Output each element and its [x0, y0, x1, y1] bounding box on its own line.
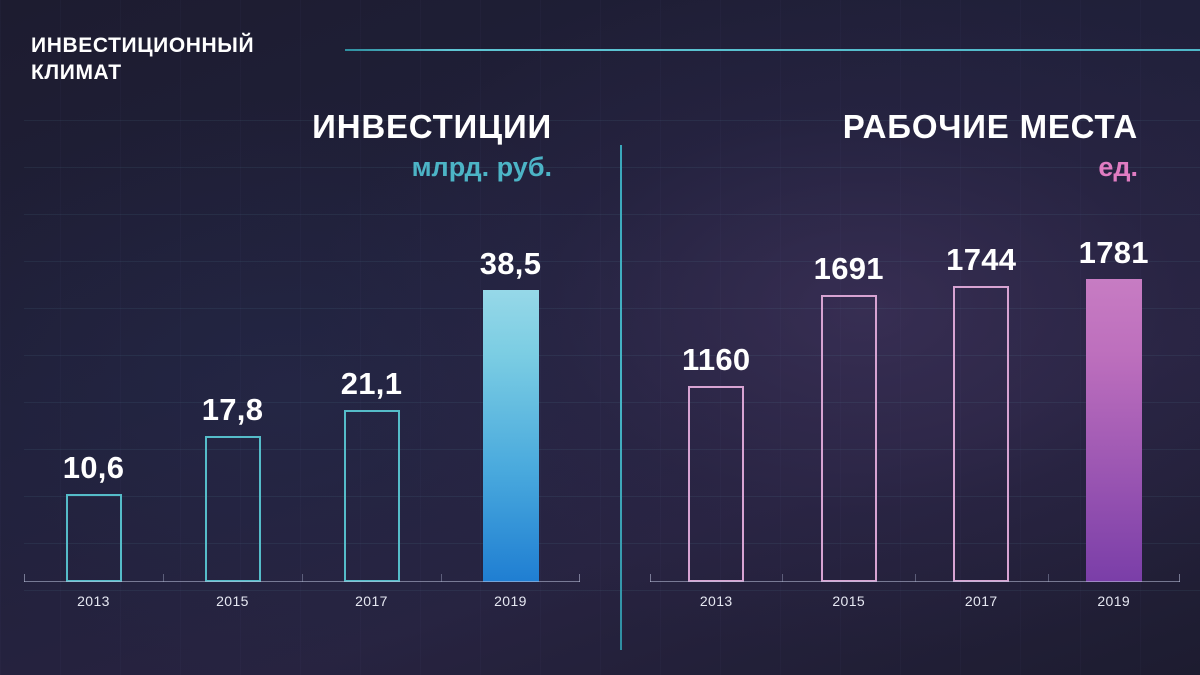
x-axis-tick: [915, 574, 916, 582]
chart-unit-jobs: ед.: [680, 149, 1138, 185]
bar-slot[interactable]: 1691: [783, 240, 916, 582]
bar[interactable]: [1086, 279, 1142, 582]
bar-slot[interactable]: 10,6: [24, 240, 163, 582]
x-axis-cap-start: [650, 574, 651, 582]
category-label: 2015: [163, 582, 302, 609]
bar[interactable]: [205, 436, 261, 582]
bar-value-label: 1691: [783, 251, 916, 287]
bar[interactable]: [344, 410, 400, 582]
investments-category-labels: 2013 2015 2017 2019: [24, 582, 580, 609]
chart-title-jobs: РАБОЧИЕ МЕСТА: [680, 107, 1138, 147]
jobs-bars: 1160 1691 1744 1781: [650, 240, 1180, 582]
category-label: 2017: [302, 582, 441, 609]
jobs-category-labels: 2013 2015 2017 2019: [650, 582, 1180, 609]
investments-panel: ИНВЕСТИЦИИ млрд. руб. 10,6 17,8 21,1 38,…: [0, 0, 620, 675]
x-axis-tick: [441, 574, 442, 582]
bar-slot[interactable]: 1744: [915, 240, 1048, 582]
bar-value-label: 1781: [1048, 235, 1181, 271]
investments-bars: 10,6 17,8 21,1 38,5: [24, 240, 580, 582]
investments-plot: 10,6 17,8 21,1 38,5 2013 2015: [24, 240, 580, 582]
category-label: 2013: [24, 582, 163, 609]
investments-header: ИНВЕСТИЦИИ млрд. руб.: [60, 107, 552, 185]
bar-slot[interactable]: 1160: [650, 240, 783, 582]
bar-value-label: 10,6: [24, 450, 163, 486]
bar-slot[interactable]: 17,8: [163, 240, 302, 582]
x-axis-cap-end: [1179, 574, 1180, 582]
bar-slot[interactable]: 21,1: [302, 240, 441, 582]
chart-title-investments: ИНВЕСТИЦИИ: [60, 107, 552, 147]
x-axis-cap-end: [579, 574, 580, 582]
bar-value-label: 21,1: [302, 366, 441, 402]
category-label: 2017: [915, 582, 1048, 609]
bar-value-label: 1160: [650, 342, 783, 378]
jobs-header: РАБОЧИЕ МЕСТА ед.: [680, 107, 1138, 185]
category-label: 2019: [1048, 582, 1181, 609]
bar-value-label: 38,5: [441, 246, 580, 282]
x-axis-tick: [302, 574, 303, 582]
x-axis-tick: [1048, 574, 1049, 582]
bar-value-label: 1744: [915, 242, 1048, 278]
category-label: 2015: [783, 582, 916, 609]
bar-slot[interactable]: 1781: [1048, 240, 1181, 582]
bar[interactable]: [953, 286, 1009, 582]
x-axis-cap-start: [24, 574, 25, 582]
category-label: 2019: [441, 582, 580, 609]
jobs-plot: 1160 1691 1744 1781 2013 2015 2017 2019: [650, 240, 1180, 582]
x-axis-tick: [163, 574, 164, 582]
chart-unit-investments: млрд. руб.: [60, 149, 552, 185]
bar[interactable]: [66, 494, 122, 582]
bar-value-label: 17,8: [163, 392, 302, 428]
bar[interactable]: [483, 290, 539, 582]
x-axis-tick: [782, 574, 783, 582]
bar[interactable]: [821, 295, 877, 582]
bar-slot[interactable]: 38,5: [441, 240, 580, 582]
bar[interactable]: [688, 386, 744, 582]
category-label: 2013: [650, 582, 783, 609]
